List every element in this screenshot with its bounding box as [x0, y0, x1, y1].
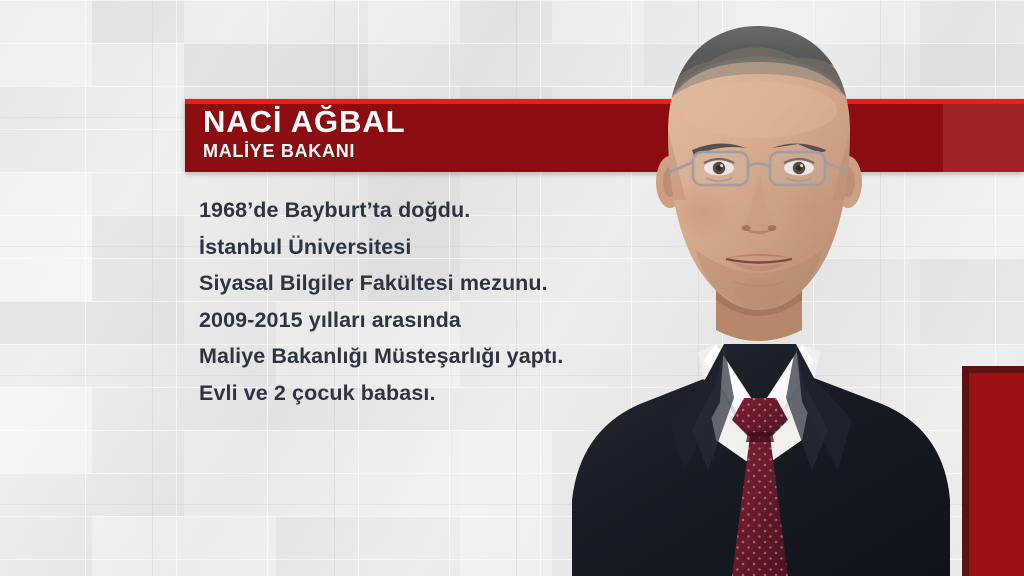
portrait-photo — [520, 0, 960, 576]
banner-text-group: NACİ AĞBAL MALİYE BAKANI — [203, 105, 405, 163]
graphic-canvas: NACİ AĞBAL MALİYE BAKANI — [0, 0, 1024, 576]
bio-line: 1968’de Bayburt’ta doğdu. — [199, 192, 563, 229]
bio-line: Evli ve 2 çocuk babası. — [199, 375, 563, 412]
bio-line: Maliye Bakanlığı Müsteşarlığı yaptı. — [199, 338, 563, 375]
bio-line: Siyasal Bilgiler Fakültesi mezunu. — [199, 265, 563, 302]
accent-block — [969, 373, 1024, 576]
person-name: NACİ AĞBAL — [203, 105, 405, 139]
bio-line: İstanbul Üniversitesi — [199, 229, 563, 266]
bio-line: 2009-2015 yılları arasında — [199, 302, 563, 339]
bio-text-block: 1968’de Bayburt’ta doğdu. İstanbul Ünive… — [199, 192, 563, 411]
person-role: MALİYE BAKANI — [203, 140, 405, 163]
